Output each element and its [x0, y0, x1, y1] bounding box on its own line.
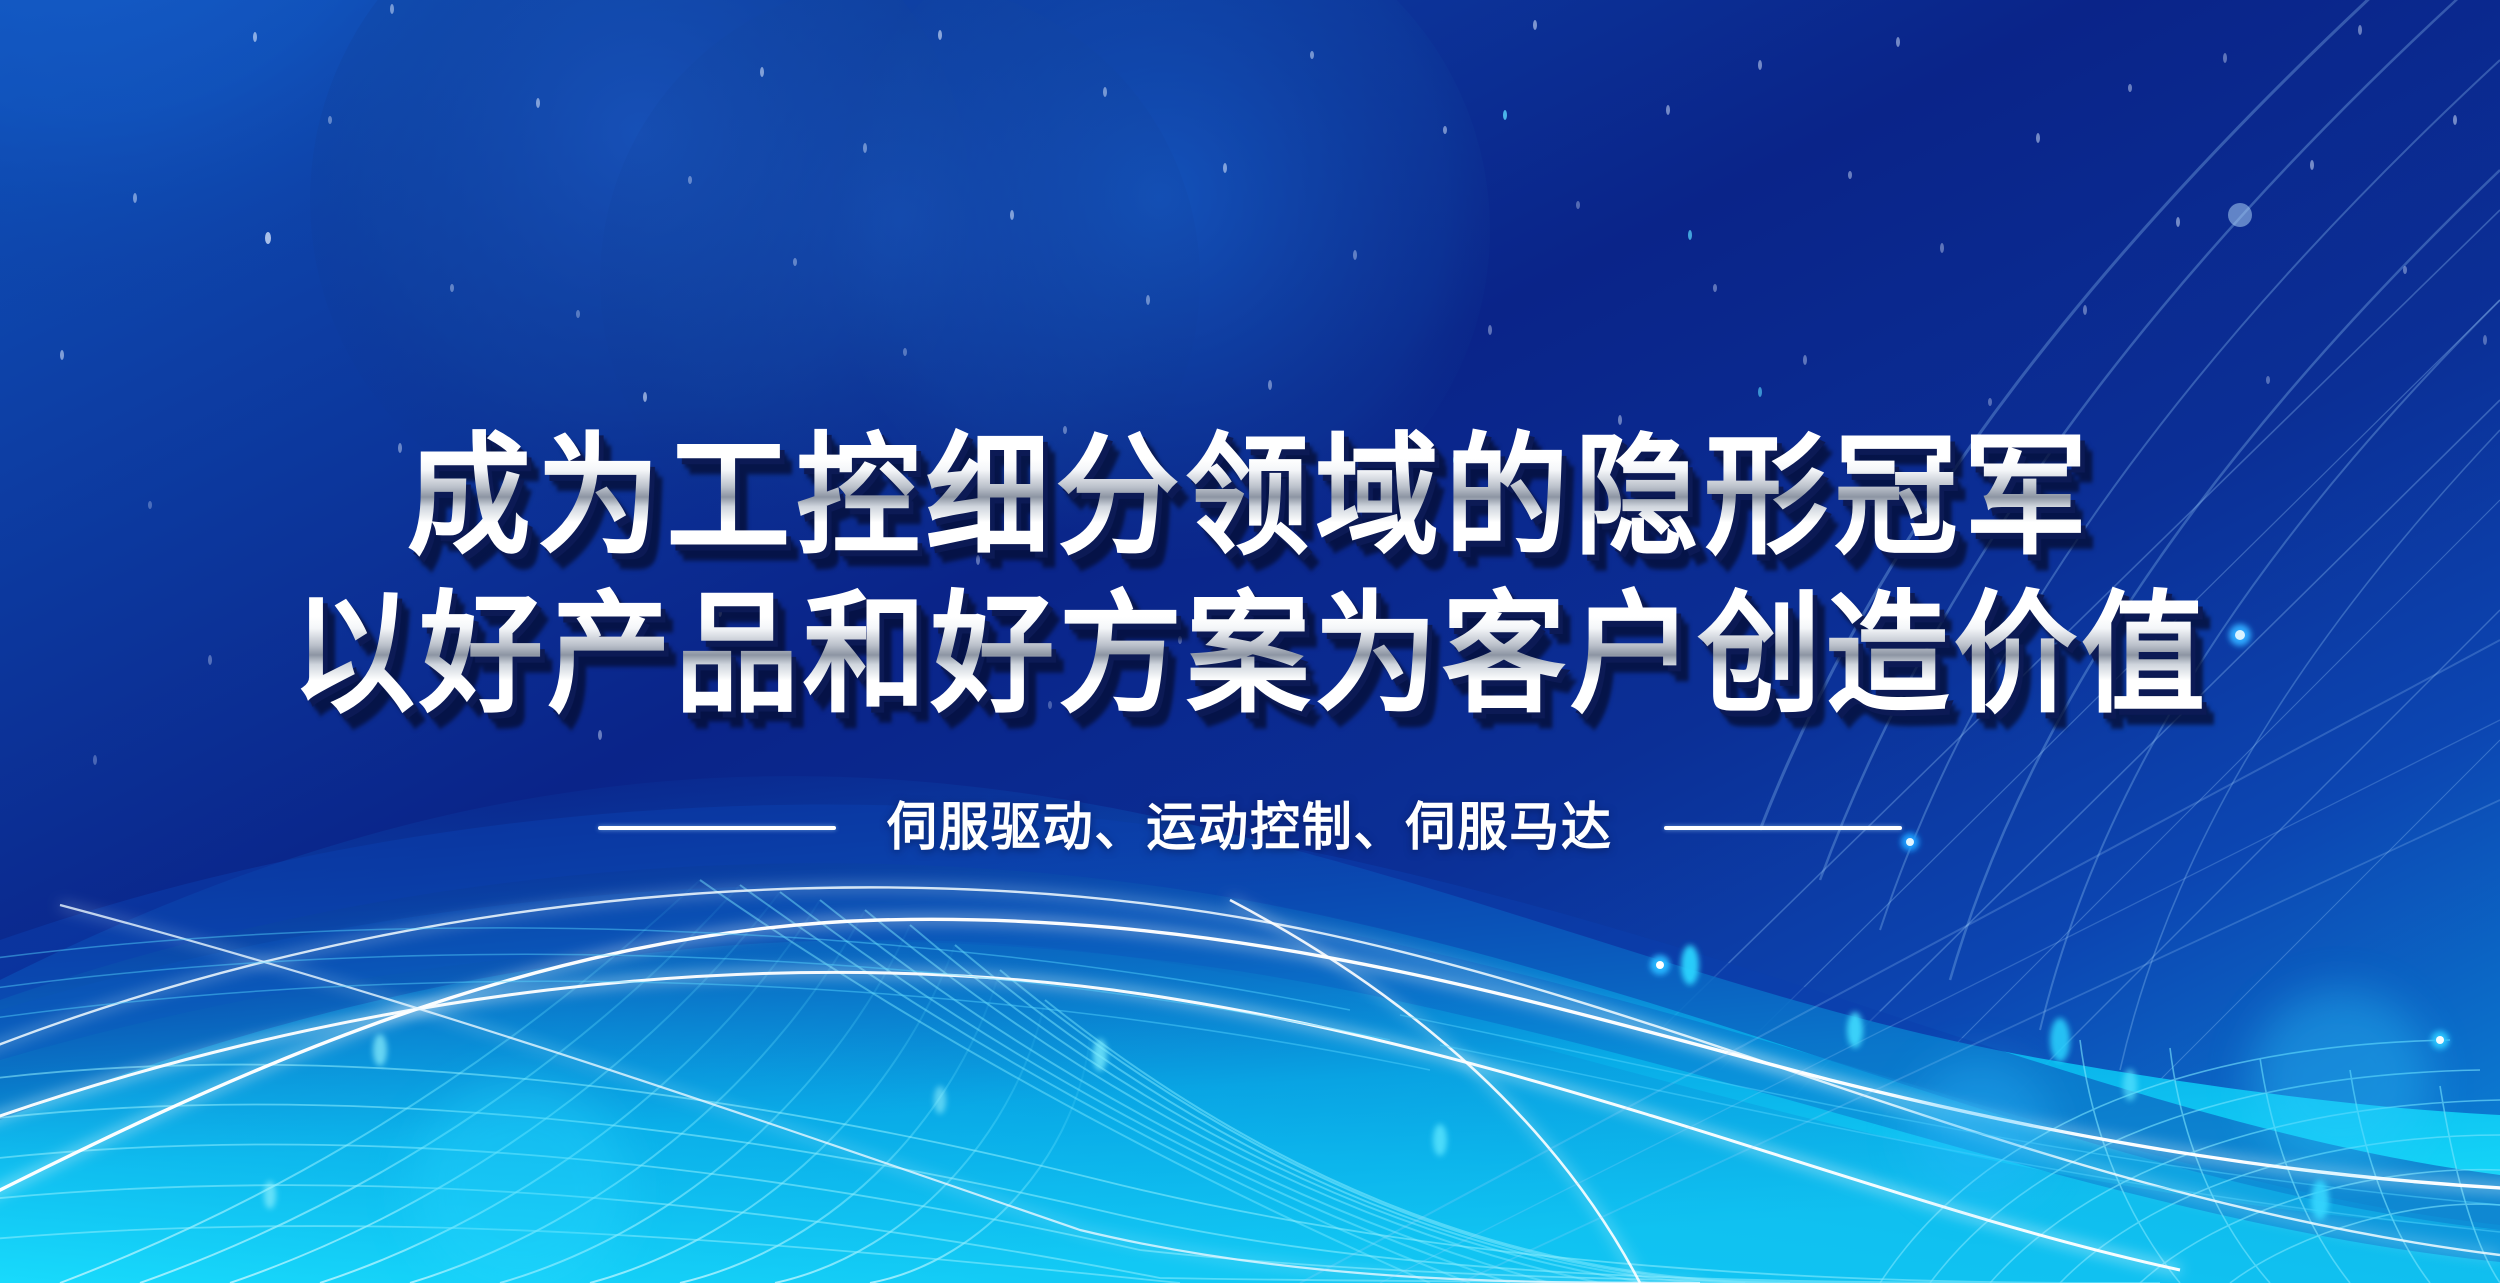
subtitle-row: 伺服驱动、运动控制、伺服马达: [0, 798, 2500, 858]
headline-line-1: 成为工控细分领域的隐形冠军: [75, 418, 2425, 576]
subtitle-text: 伺服驱动、运动控制、伺服马达: [887, 798, 1613, 858]
promo-banner: 成为工控细分领域的隐形冠军 以好产品和好方案为客户创造价值 伺服驱动、运动控制、…: [0, 0, 2500, 1283]
headline-line-2: 以好产品和好方案为客户创造价值: [75, 576, 2425, 734]
divider-rule-right: [1664, 826, 1902, 830]
banner-content: 成为工控细分领域的隐形冠军 以好产品和好方案为客户创造价值 伺服驱动、运动控制、…: [0, 0, 2500, 1283]
divider-rule-left: [598, 826, 836, 830]
headline-block: 成为工控细分领域的隐形冠军 以好产品和好方案为客户创造价值: [0, 418, 2500, 734]
